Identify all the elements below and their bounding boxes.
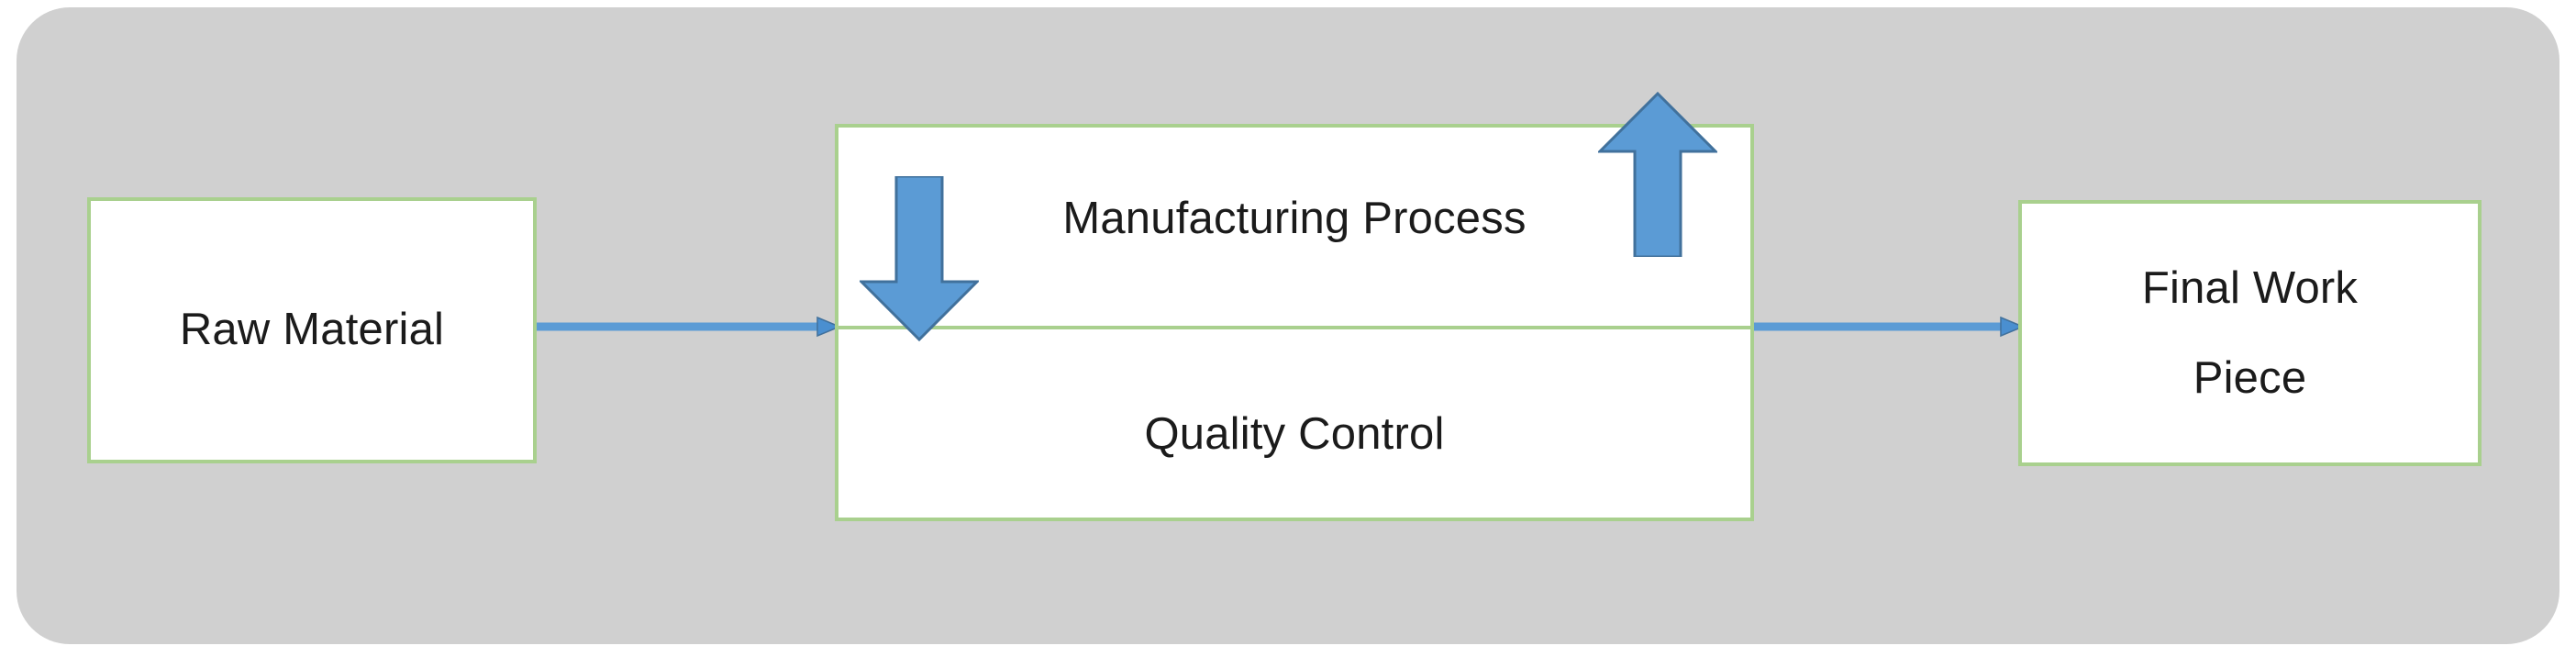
node-final-work-piece-label-line1: Final Work	[2142, 243, 2358, 333]
arrow-up-icon	[1598, 92, 1717, 257]
node-raw-material-label: Raw Material	[180, 306, 444, 353]
node-final-work-piece-label-line2: Piece	[2193, 333, 2307, 423]
diagram-canvas: Raw Material Manufacturing Process Quali…	[0, 0, 2576, 657]
node-manufacturing-process-label: Manufacturing Process	[1062, 195, 1526, 242]
arrow-down-glyph	[860, 176, 979, 341]
arrow-up-glyph	[1598, 92, 1717, 257]
arrow-down-icon	[860, 176, 979, 341]
arrow-raw-material-to-manufacturing-process	[537, 316, 839, 338]
node-quality-control[interactable]: Quality Control	[838, 329, 1750, 521]
arrow-quality-control-to-final-work-piece	[1754, 316, 2023, 338]
node-raw-material[interactable]: Raw Material	[87, 197, 537, 463]
arrow-right-icon	[537, 316, 839, 338]
arrow-right-icon	[1754, 316, 2023, 338]
node-quality-control-label: Quality Control	[1144, 411, 1444, 458]
node-final-work-piece[interactable]: Final Work Piece	[2018, 200, 2482, 466]
